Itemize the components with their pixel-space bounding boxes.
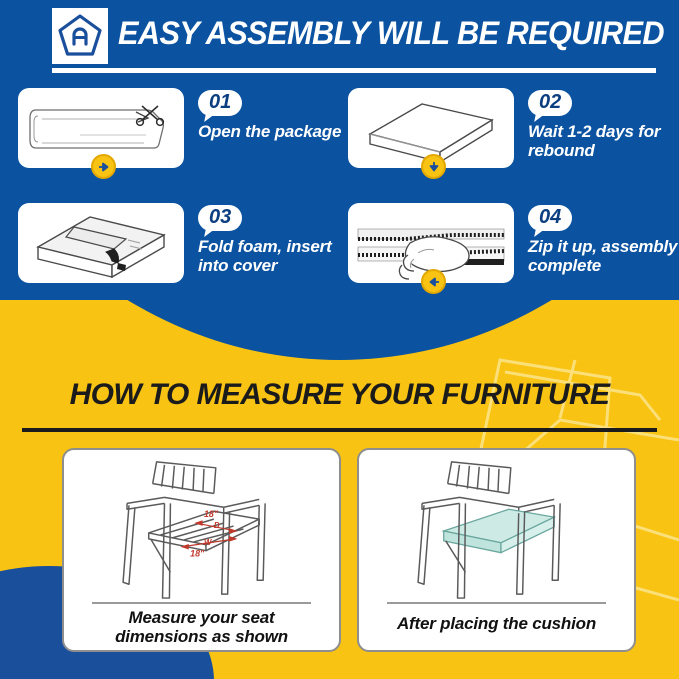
step-art-card	[348, 88, 514, 168]
arrow-left-icon	[421, 269, 446, 294]
caption-line-1: Measure your seat	[129, 608, 275, 627]
step-text-block: 03 Fold foam, insert into cover	[198, 203, 358, 275]
step-number-badge: 04	[528, 205, 572, 231]
measure-card-divider	[387, 602, 606, 604]
step-art-card	[18, 203, 184, 283]
step-text-block: 01 Open the package	[198, 88, 358, 142]
header-divider	[52, 68, 656, 73]
step-label: Open the package	[198, 123, 358, 141]
measure-cards: 18" D W 18" Measure your seat dimensions…	[0, 448, 679, 658]
step-art-card	[348, 203, 514, 283]
step-text-block: 04 Zip it up, assembly complete	[528, 203, 679, 275]
dimension-width-value: 18"	[190, 549, 205, 559]
step-label: Fold foam, insert into cover	[198, 238, 358, 275]
arrow-down-icon	[421, 154, 446, 179]
step-number-badge: 03	[198, 205, 242, 231]
step-art-card	[18, 88, 184, 168]
step-number-badge: 01	[198, 90, 242, 116]
folded-foam-into-cover-icon	[18, 203, 184, 283]
assembly-steps: 01 Open the package	[0, 88, 679, 318]
caption-line-2: dimensions as shown	[115, 627, 288, 646]
dimension-depth-letter: D	[214, 521, 220, 530]
measure-card-caption: After placing the cushion	[359, 614, 634, 633]
step-text-block: 02 Wait 1-2 days for rebound	[528, 88, 679, 160]
step-label: Wait 1-2 days for rebound	[528, 123, 679, 160]
step-item-03: 03 Fold foam, insert into cover	[18, 203, 358, 283]
infographic-stage: EASY ASSEMBLY WILL BE REQUIRED	[0, 0, 679, 679]
step-item-02: 02 Wait 1-2 days for rebound	[348, 88, 679, 168]
step-number-badge: 02	[528, 90, 572, 116]
measure-section-title: HOW TO MEASURE YOUR FURNITURE	[0, 378, 679, 412]
measure-card-dimensions: 18" D W 18" Measure your seat dimensions…	[62, 448, 341, 652]
dimension-width-letter: W	[204, 538, 212, 547]
arrow-right-icon	[91, 154, 116, 179]
measure-card-divider	[92, 602, 311, 604]
chair-with-cushion-icon	[359, 454, 634, 602]
measure-section-divider	[22, 428, 657, 432]
dimension-depth-value: 18"	[204, 509, 219, 519]
step-item-04: 04 Zip it up, assembly complete	[348, 203, 679, 283]
house-pentagon-logo-icon	[52, 8, 108, 64]
caption-line-1: After placing the cushion	[397, 614, 596, 633]
measure-card-cushion: After placing the cushion	[357, 448, 636, 652]
step-label: Zip it up, assembly complete	[528, 238, 679, 275]
measure-card-caption: Measure your seat dimensions as shown	[64, 608, 339, 646]
page-title: EASY ASSEMBLY WILL BE REQUIRED	[118, 15, 664, 52]
chair-with-dimensions-icon: 18" D W 18"	[64, 454, 339, 602]
step-item-01: 01 Open the package	[18, 88, 358, 168]
